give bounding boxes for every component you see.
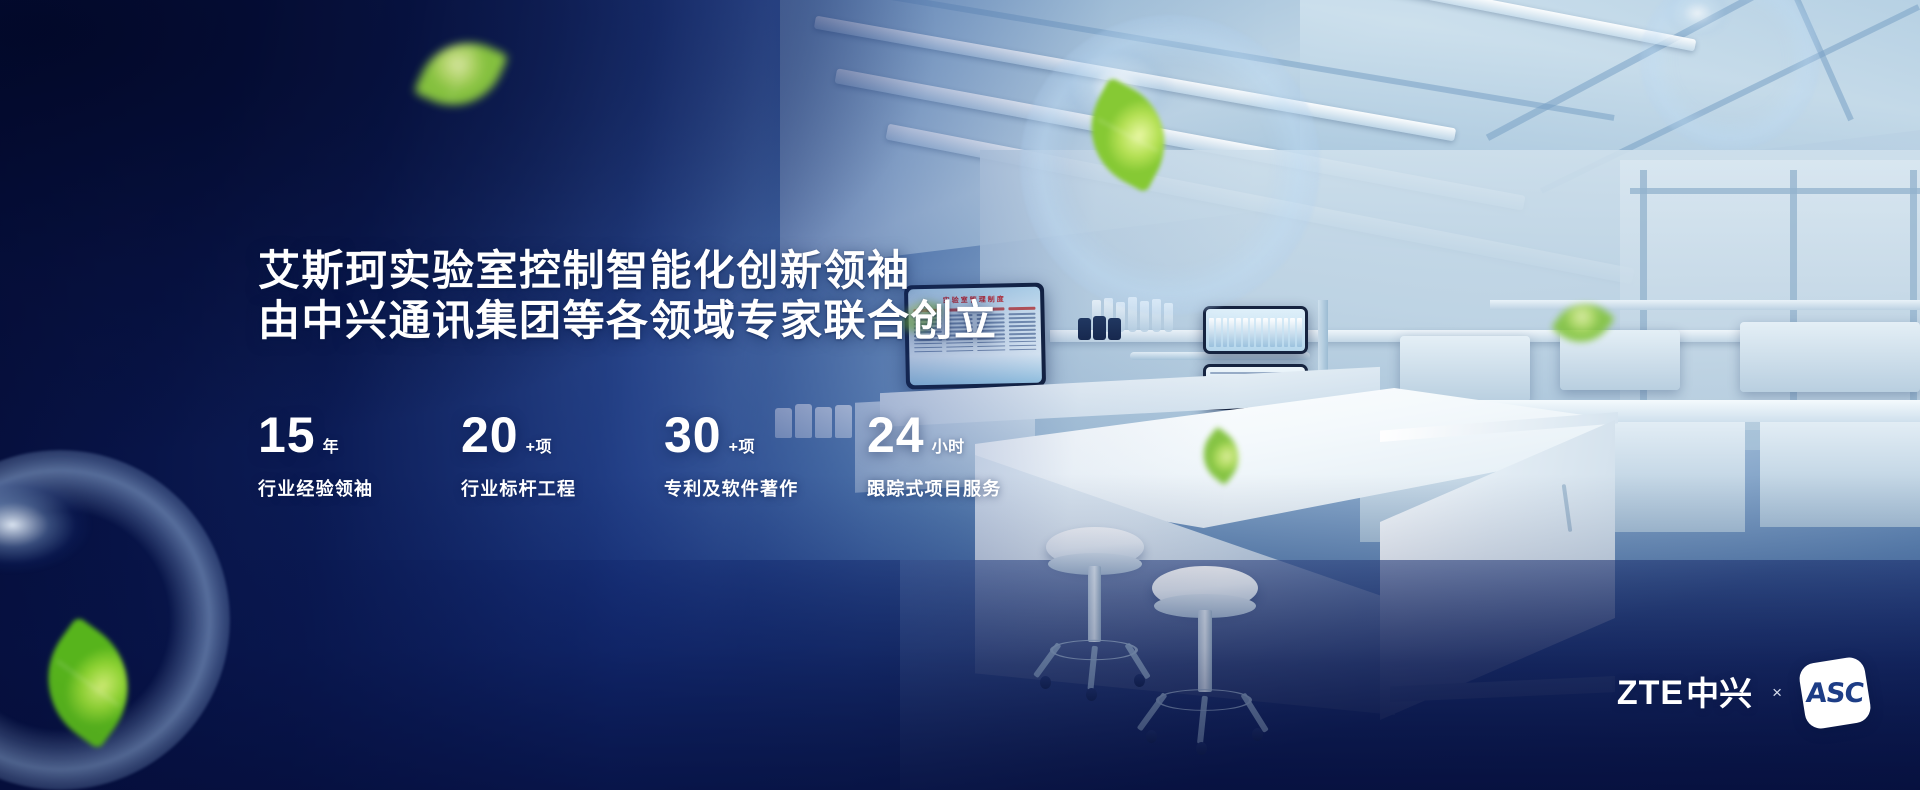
stat-value-group: 15 年	[258, 410, 461, 460]
stat-unit: 年	[323, 433, 340, 457]
stat-label: 专利及软件著作	[664, 475, 867, 501]
stat-item-benchmark-projects: 20 +项 行业标杆工程	[461, 410, 664, 501]
stat-value-group: 20 +项	[461, 410, 664, 460]
stat-item-service: 24 小时 跟踪式项目服务	[867, 410, 1070, 501]
stat-unit: 小时	[932, 433, 965, 457]
hero-banner: 实验室管理制度	[0, 0, 1920, 790]
stat-number: 24	[867, 410, 925, 460]
asc-logo: ASC	[1797, 655, 1873, 731]
stat-number: 30	[664, 410, 722, 460]
asc-logo-text: ASC	[1805, 678, 1865, 709]
stat-number: 15	[258, 410, 316, 460]
stats-row: 15 年 行业经验领袖 20 +项 行业标杆工程 30 +项 专利及软件著作	[258, 410, 1070, 501]
stat-label: 行业标杆工程	[461, 475, 664, 501]
headline-line-2: 由中兴通讯集团等各领域专家联合创立	[258, 296, 998, 346]
stat-label: 跟踪式项目服务	[867, 475, 1070, 501]
headline-block: 艾斯珂实验室控制智能化创新领袖 由中兴通讯集团等各领域专家联合创立	[258, 246, 998, 345]
zte-logo-chinese: 中兴	[1686, 677, 1752, 710]
stat-item-experience: 15 年 行业经验领袖	[258, 410, 461, 501]
logo-separator-x: ×	[1772, 683, 1782, 703]
logo-lockup: ZTE 中兴 × ASC	[1617, 660, 1868, 726]
stat-label: 行业经验领袖	[258, 475, 461, 501]
stat-item-patents: 30 +项 专利及软件著作	[664, 410, 867, 501]
stat-unit: +项	[729, 433, 755, 457]
zte-logo-latin: ZTE	[1617, 676, 1684, 710]
headline-line-1: 艾斯珂实验室控制智能化创新领袖	[258, 246, 998, 296]
stat-unit: +项	[526, 433, 552, 457]
stat-value-group: 24 小时	[867, 410, 1070, 460]
banner-content: 艾斯珂实验室控制智能化创新领袖 由中兴通讯集团等各领域专家联合创立 15 年 行…	[0, 0, 1920, 790]
stat-number: 20	[461, 410, 519, 460]
stat-value-group: 30 +项	[664, 410, 867, 460]
zte-logo: ZTE 中兴	[1617, 676, 1752, 710]
